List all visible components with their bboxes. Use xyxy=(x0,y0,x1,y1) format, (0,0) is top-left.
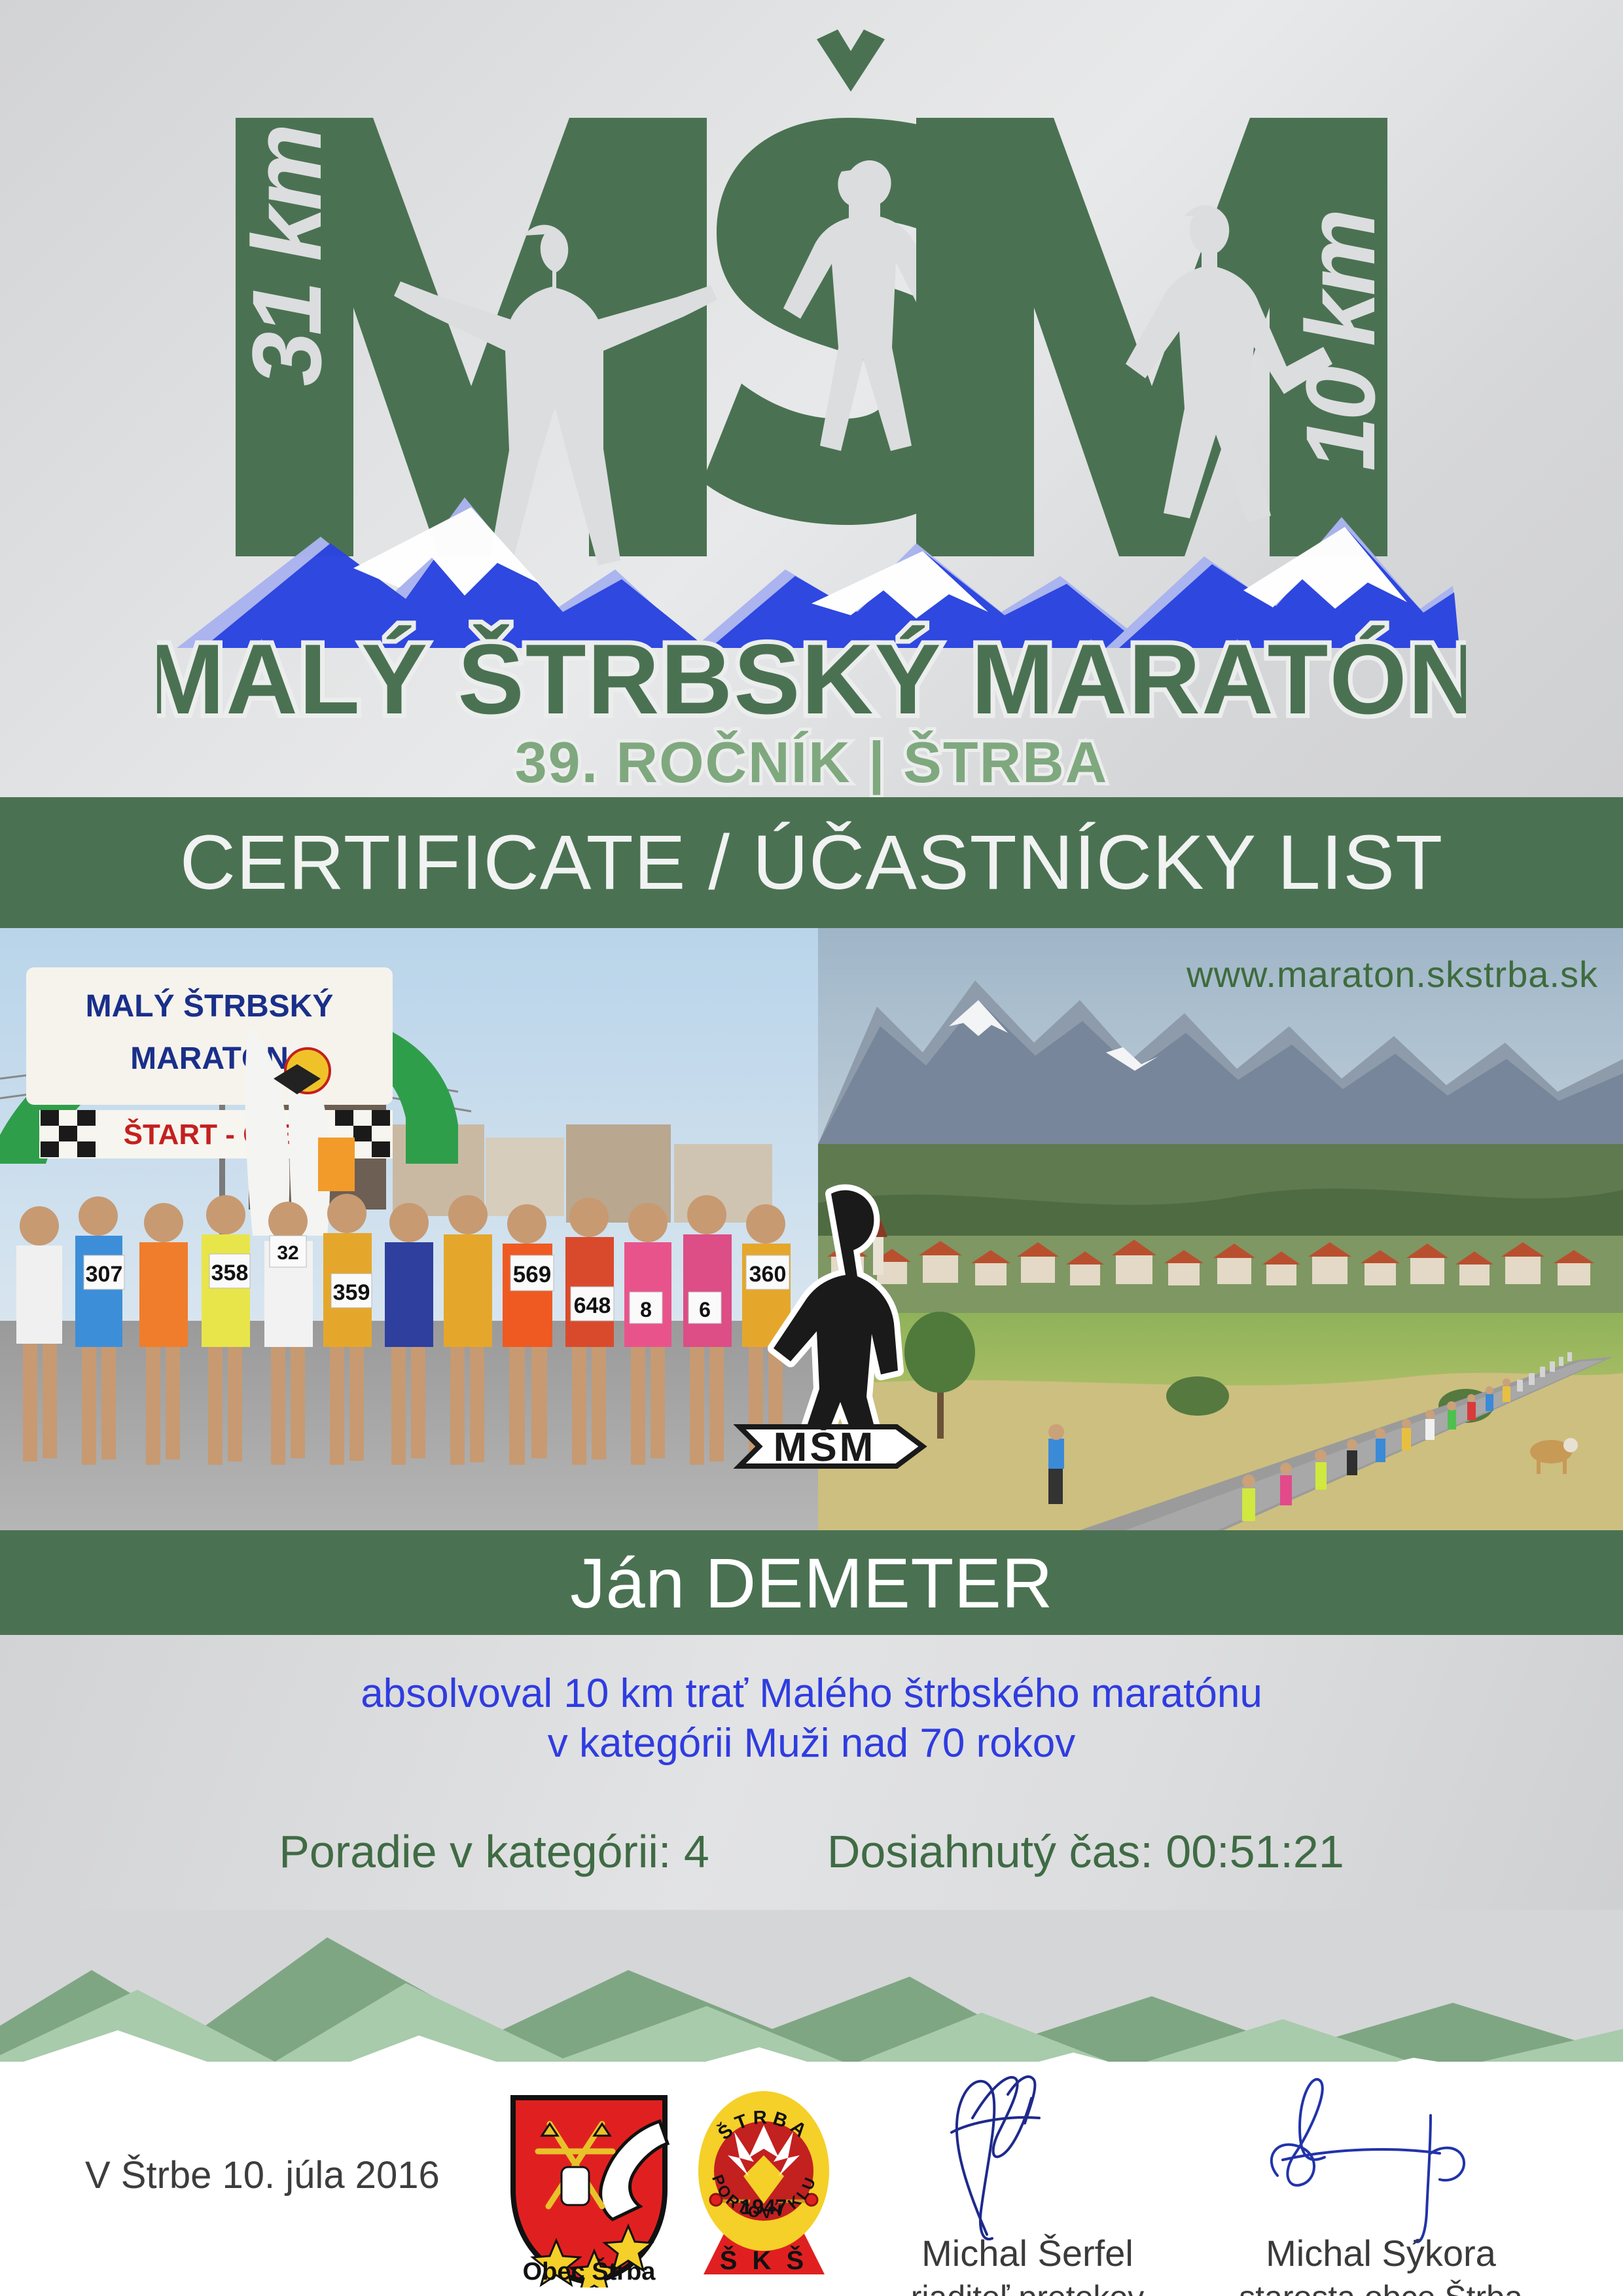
event-title: MALÝ ŠTRBSKÝ MARATÓN xyxy=(157,624,1466,735)
participant-name: Ján DEMETER xyxy=(570,1542,1053,1624)
finish-time: Dosiahnutý čas: 00:51:21 xyxy=(827,1825,1344,1878)
category-rank: Poradie v kategórii: 4 xyxy=(279,1825,709,1878)
sks-club-logo-svg: ŠTRBA ŠPORTOVÝ KLUB 1947 Š K Š xyxy=(694,2085,834,2281)
signature-mark-director xyxy=(910,2055,1145,2251)
signature-block-mayor: Michal Sýkora starosta obce Štrba xyxy=(1198,2101,1564,2296)
certificate-page: 31 km 10 km xyxy=(0,0,1623,2296)
sks-year: 1947 xyxy=(740,2195,787,2219)
certificate-title: CERTIFICATE / ÚČASTNÍCKY LIST xyxy=(180,818,1443,907)
hero-logo-area: 31 km 10 km xyxy=(0,0,1623,797)
spectator xyxy=(1048,1424,1064,1504)
caron-accent xyxy=(817,29,885,92)
signature-role: starosta obce Štrba xyxy=(1198,2278,1564,2296)
photo-start-line-svg: MALÝ ŠTRBSKÝ MARATÓN ŠTART - CIEĽ xyxy=(0,928,818,1530)
distance-right-label: 10 km xyxy=(1285,212,1395,471)
bib-number: 359 xyxy=(333,1280,370,1305)
signature-name: Michal Šerfel xyxy=(844,2232,1211,2274)
logo-letter-m-right: 10 km xyxy=(916,118,1395,556)
msm-runner-badge: MŠM xyxy=(733,1172,955,1479)
sks-club-logo: ŠTRBA ŠPORTOVÝ KLUB 1947 Š K Š xyxy=(694,2085,834,2281)
obec-strba-label: Obec Štrba xyxy=(504,2258,674,2286)
bib-number: 8 xyxy=(640,1298,652,1321)
signature-role: riaditeľ pretekov xyxy=(844,2278,1211,2296)
photo-start-line: MALÝ ŠTRBSKÝ MARATÓN ŠTART - CIEĽ xyxy=(0,928,818,1530)
signature-block-director: Michal Šerfel riaditeľ pretekov xyxy=(844,2101,1211,2296)
bib-number: 32 xyxy=(277,1242,298,1264)
distance-left-label: 31 km xyxy=(232,127,342,386)
bib-number: 648 xyxy=(574,1293,611,1318)
event-subtitle: 39. ROČNÍK | ŠTRBA xyxy=(515,730,1109,795)
logo-letter-m-left: 31 km xyxy=(232,118,717,565)
sks-initials: Š K Š xyxy=(720,2245,808,2275)
msm-logo-svg: 31 km 10 km xyxy=(157,20,1466,797)
footer-date-place: V Štrbe 10. júla 2016 xyxy=(85,2153,440,2197)
msm-runner-badge-svg: MŠM xyxy=(733,1172,955,1479)
result-row: Poradie v kategórii: 4 Dosiahnutý čas: 0… xyxy=(0,1768,1623,1878)
bib-number: 6 xyxy=(699,1298,711,1321)
signature-name: Michal Sýkora xyxy=(1198,2232,1564,2274)
certificate-title-band: CERTIFICATE / ÚČASTNÍCKY LIST xyxy=(0,797,1623,928)
bib-number: 307 xyxy=(86,1262,123,1287)
participant-name-band: Ján DEMETER xyxy=(0,1530,1623,1635)
website-url[interactable]: www.maraton.skstrba.sk xyxy=(1186,953,1598,996)
footer: V Štrbe 10. júla 2016 xyxy=(0,2062,1623,2296)
signature-mark-mayor xyxy=(1243,2055,1518,2251)
description-line-1: absolvoval 10 km trať Malého štrbského m… xyxy=(0,1635,1623,1719)
description-line-2: v kategórii Muži nad 70 rokov xyxy=(0,1719,1623,1768)
bib-number: 358 xyxy=(211,1261,249,1285)
msm-badge-text: MŠM xyxy=(774,1425,876,1470)
bib-number: 569 xyxy=(513,1262,551,1287)
arch-line1: MALÝ ŠTRBSKÝ xyxy=(86,988,334,1024)
msm-badge-ribbon: MŠM xyxy=(740,1425,923,1470)
result-details: absolvoval 10 km trať Malého štrbského m… xyxy=(0,1635,1623,1910)
start-arch: MALÝ ŠTRBSKÝ MARATÓN ŠTART - CIEĽ xyxy=(0,967,458,1164)
msm-logo: 31 km 10 km xyxy=(0,0,1623,797)
